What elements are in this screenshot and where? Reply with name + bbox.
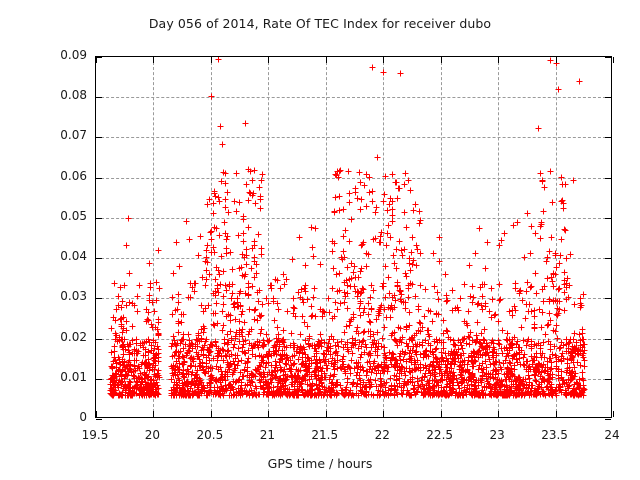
y-tick-label: 0.04 [27, 249, 87, 263]
x-tick-label: 22 [352, 428, 412, 442]
x-axis-title: GPS time / hours [0, 456, 640, 471]
x-tick-label: 23 [467, 428, 527, 442]
chart-canvas: Day 056 of 2014, Rate Of TEC Index for r… [0, 0, 640, 480]
y-tick-label: 0.07 [27, 128, 87, 142]
x-tick-label: 22.5 [410, 428, 470, 442]
x-tick [613, 411, 614, 417]
y-tick [96, 419, 102, 420]
y-tick-label: 0.08 [27, 88, 87, 102]
y-tick-label: 0.06 [27, 169, 87, 183]
x-tick-label: 24 [582, 428, 640, 442]
page-title: Day 056 of 2014, Rate Of TEC Index for r… [0, 16, 640, 31]
y-tick-label: 0.05 [27, 209, 87, 223]
x-tick-label: 20.5 [180, 428, 240, 442]
y-tick-label: 0 [27, 410, 87, 424]
x-tick-label: 23.5 [525, 428, 585, 442]
y-tick-label: 0.01 [27, 370, 87, 384]
y-tick-label: 0.03 [27, 289, 87, 303]
scatter-points-layer [96, 57, 613, 419]
x-tick-top [613, 57, 614, 63]
y-tick-label: 0.02 [27, 330, 87, 344]
x-tick-label: 21 [237, 428, 297, 442]
y-tick-label: 0.09 [27, 48, 87, 62]
plot-area [95, 56, 612, 418]
x-tick-label: 20 [122, 428, 182, 442]
y-tick-right [605, 419, 611, 420]
x-tick-label: 21.5 [295, 428, 355, 442]
x-tick-label: 19.5 [65, 428, 125, 442]
